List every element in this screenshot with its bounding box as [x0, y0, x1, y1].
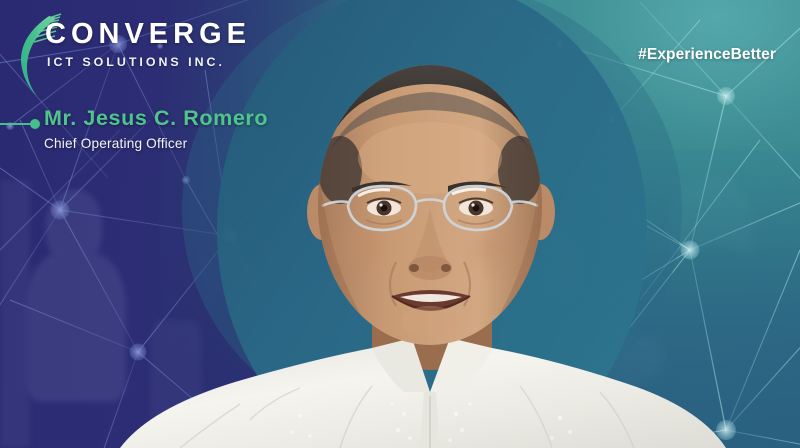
speaker-title: Chief Operating Officer — [0, 137, 300, 151]
logo-tagline: ICT SOLUTIONS INC. — [24, 56, 244, 68]
broadcast-overlay-frame: CONVERGE ICT SOLUTIONS INC. Mr. Jesus C.… — [0, 0, 800, 448]
converge-logo: CONVERGE ICT SOLUTIONS INC. — [24, 20, 244, 68]
logo-wordmark: CONVERGE — [24, 20, 244, 49]
line-with-dot-icon — [0, 118, 44, 130]
speaker-name: Mr. Jesus C. Romero — [0, 108, 300, 130]
speaker-nameplate: Mr. Jesus C. Romero Chief Operating Offi… — [0, 108, 300, 150]
campaign-hashtag: #ExperienceBetter — [638, 46, 776, 64]
